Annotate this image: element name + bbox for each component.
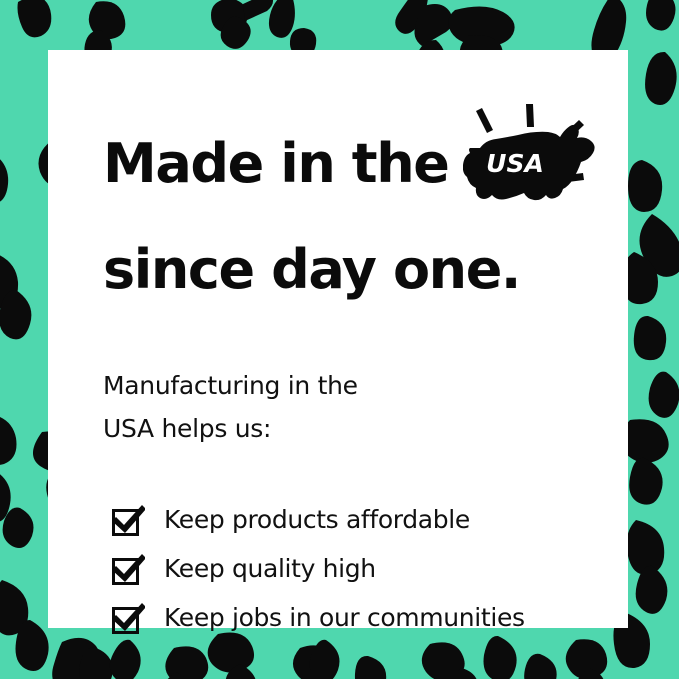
body-copy: Manufacturing in the USA helps us: xyxy=(103,312,584,450)
list-item-label: Keep products affordable xyxy=(164,505,470,534)
body-copy-line-1: Manufacturing in the xyxy=(103,364,584,407)
content-card: Made in the USA sin xyxy=(48,50,628,628)
list-item: Keep quality high xyxy=(111,544,584,593)
body-copy-line-2: USA helps us: xyxy=(103,407,584,450)
headline-line-1: Made in the xyxy=(103,122,449,206)
headline-line-1-row: Made in the USA xyxy=(103,102,584,226)
benefits-checklist: Keep products affordable Keep quality hi… xyxy=(103,450,584,642)
poster-canvas: Made in the USA sin xyxy=(0,0,679,679)
list-item-label: Keep jobs in our communities xyxy=(164,603,525,632)
usa-map-icon: USA xyxy=(463,102,613,222)
usa-badge-label: USA xyxy=(486,149,544,178)
list-item-label: Keep quality high xyxy=(164,554,376,583)
list-item: Keep jobs in our communities xyxy=(111,593,584,642)
checkbox-checked-icon xyxy=(111,601,145,635)
headline-line-2: since day one. xyxy=(103,228,584,312)
checkbox-checked-icon xyxy=(111,503,145,537)
list-item: Keep products affordable xyxy=(111,495,584,544)
checkbox-checked-icon xyxy=(111,552,145,586)
